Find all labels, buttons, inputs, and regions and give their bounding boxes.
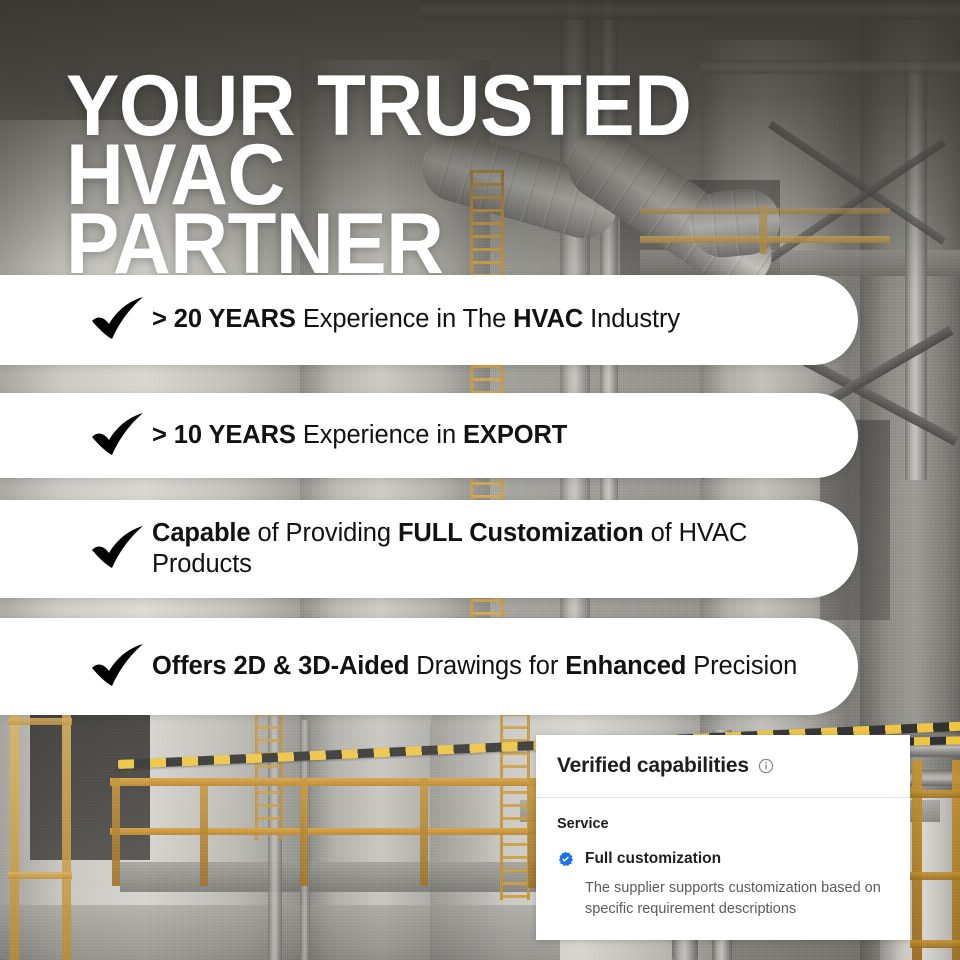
feature-bar-1-text: > 20 YEARS Experience in The HVAC Indust… xyxy=(152,304,858,335)
feature-bar-1: > 20 YEARS Experience in The HVAC Indust… xyxy=(0,275,858,365)
feature-bar-2-part-2: EXPORT xyxy=(463,421,567,449)
verified-badge-icon xyxy=(557,851,574,868)
check-mark-icon xyxy=(86,524,152,574)
feature-bar-4-part-1: Drawings for xyxy=(409,652,565,680)
feature-bar-3: Capable of Providing FULL Customization … xyxy=(0,500,858,598)
feature-bar-2-part-0: > 10 YEARS xyxy=(152,421,296,449)
verified-capabilities-title: Verified capabilities xyxy=(557,754,749,778)
capability-item: Full customization The supplier supports… xyxy=(557,850,889,920)
banner-stage: YOUR TRUSTED HVAC PARTNER > 20 YEARS Exp… xyxy=(0,0,960,960)
feature-bar-4-text: Offers 2D & 3D-Aided Drawings for Enhanc… xyxy=(152,651,858,682)
feature-bar-3-part-2: FULL Customization xyxy=(398,519,644,547)
feature-bar-1-part-3: Industry xyxy=(583,305,680,333)
feature-bar-4-part-3: Precision xyxy=(686,652,797,680)
check-mark-icon xyxy=(86,411,152,461)
capability-name: Full customization xyxy=(585,850,721,867)
feature-bar-4: Offers 2D & 3D-Aided Drawings for Enhanc… xyxy=(0,618,858,715)
feature-bar-3-text: Capable of Providing FULL Customization … xyxy=(152,518,858,580)
feature-bar-4-part-0: Offers 2D & 3D-Aided xyxy=(152,652,409,680)
check-mark-icon xyxy=(86,295,152,345)
capability-section-label: Service xyxy=(557,816,889,832)
info-circle-icon[interactable] xyxy=(758,758,774,774)
feature-bar-3-part-1: of Providing xyxy=(251,519,398,547)
feature-bar-1-part-2: HVAC xyxy=(513,305,583,333)
feature-bar-2: > 10 YEARS Experience in EXPORT xyxy=(0,393,858,478)
verified-capabilities-header: Verified capabilities xyxy=(536,735,910,798)
feature-bar-1-part-1: Experience in The xyxy=(296,305,513,333)
feature-bar-3-part-0: Capable xyxy=(152,519,251,547)
capability-content: Full customization The supplier supports… xyxy=(585,850,889,920)
page-title: YOUR TRUSTED HVAC PARTNER xyxy=(66,72,866,278)
feature-bar-1-part-0: > 20 YEARS xyxy=(152,305,296,333)
verified-capabilities-card: Verified capabilities Service xyxy=(536,735,910,940)
verified-capabilities-body: Service Full customization The supplier … xyxy=(536,798,910,920)
capability-description: The supplier supports customization base… xyxy=(585,878,889,920)
feature-bar-2-part-1: Experience in xyxy=(296,421,463,449)
check-mark-icon xyxy=(86,642,152,692)
feature-bar-4-part-2: Enhanced xyxy=(565,652,686,680)
feature-bar-2-text: > 10 YEARS Experience in EXPORT xyxy=(152,420,858,451)
